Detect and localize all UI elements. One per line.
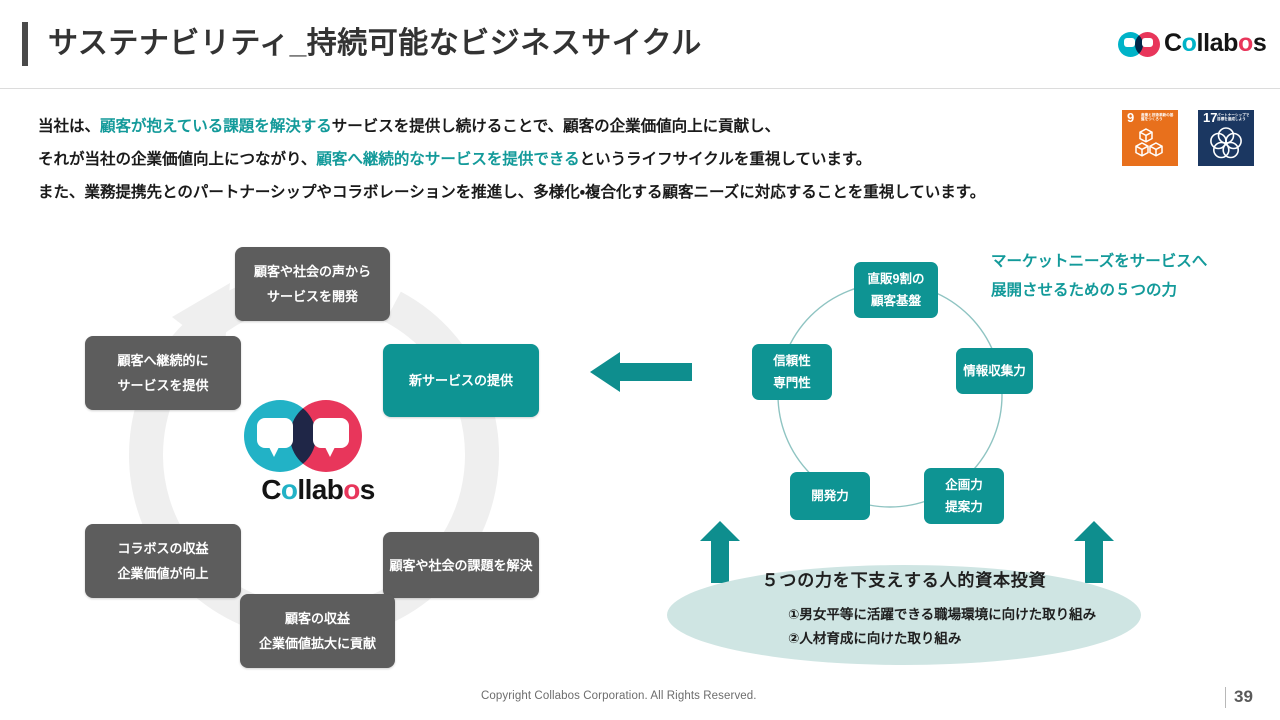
cycle-box-collabos-profit-line1: コラボスの収益 [117,536,208,561]
sdg-17-badge: 17 パートナーシップで目標を達成しよう [1198,110,1254,166]
cycle-box-collabos-profit[interactable]: コラボスの収益 企業価値が向上 [85,524,241,598]
cycle-box-continuous-line2: サービスを提供 [117,373,208,398]
force-trust-line2: 専門性 [773,372,811,394]
sdg-9-badge: 9 産業と技術革新の基盤をつくろう [1122,110,1178,166]
cycle-box-solve[interactable]: 顧客や社会の課題を解決 [383,532,539,598]
speech-bubble-left-large-icon [257,418,293,448]
force-box-customer-base[interactable]: 直販9割の 顧客基盤 [854,262,938,318]
page-number: 39 [1234,687,1253,707]
footer-copyright: Copyright Collabos Corporation. All Righ… [481,690,757,702]
force-box-info-gathering[interactable]: 情報収集力 [956,348,1033,394]
lead-line-1: 当社は、顧客が抱えている課題を解決するサービスを提供し続けることで、顧客の企業価… [38,110,1098,143]
force-development-line1: 開発力 [811,485,849,507]
force-info-gathering-line1: 情報収集力 [963,360,1026,382]
collabos-header-logo: Collabos [1118,28,1264,62]
human-capital-item-2: ②人材育成に向けた取り組み [788,627,1188,651]
cycle-box-customer-profit-line2: 企業価値拡大に貢献 [259,631,376,656]
five-forces-diagram: 直販9割の 顧客基盤 情報収集力 企画力 提案力 開発力 信頼性 専門性 [740,262,1030,532]
cycle-box-provide-new[interactable]: 新サービスの提供 [383,344,539,417]
speech-tail-left-icon [268,445,280,457]
business-cycle-diagram: 顧客や社会の声から サービスを開発 新サービスの提供 顧客や社会の課題を解決 顧… [85,243,555,675]
lead-line-2: それが当社の企業価値向上につながり、顧客へ継続的なサービスを提供できるというライ… [38,143,1098,176]
lead-paragraph: 当社は、顧客が抱えている課題を解決するサービスを提供し続けることで、顧客の企業価… [38,110,1098,209]
cycle-box-develop-line1: 顧客や社会の声から [254,259,371,284]
force-box-planning[interactable]: 企画力 提案力 [924,468,1004,524]
header-divider [0,88,1280,89]
collabos-center-wordmark: Collabos [235,474,401,506]
cycle-box-develop-line2: サービスを開発 [267,284,358,309]
title-accent-bar [22,22,28,66]
cycle-box-collabos-profit-line2: 企業価値が向上 [117,561,208,586]
force-planning-line2: 提案力 [945,496,983,518]
cycle-box-continuous-line1: 顧客へ継続的に [117,348,208,373]
collabos-center-logo: Collabos [235,400,401,518]
cycle-box-customer-profit[interactable]: 顧客の収益 企業価値拡大に貢献 [240,594,395,668]
human-capital-item-1: ①男女平等に活躍できる職場環境に向けた取り組み [788,603,1188,627]
five-forces-headline-line1: マーケットニーズをサービスへ [991,247,1266,276]
five-forces-headline-line2: 展開させるための５つの力 [991,276,1266,305]
sdg-9-number: 9 [1127,112,1134,124]
collabos-rings-icon [1118,32,1160,57]
cycle-box-customer-profit-line1: 顧客の収益 [285,606,350,631]
sdg-17-caption: パートナーシップで目標を達成しよう [1217,113,1251,122]
page-number-divider [1225,687,1226,708]
force-customer-base-line2: 顧客基盤 [871,290,921,312]
sdg-9-caption: 産業と技術革新の基盤をつくろう [1141,113,1175,122]
force-planning-line1: 企画力 [945,474,983,496]
flow-arrow-left-icon [590,352,692,392]
page-title: サステナビリティ_持続可能なビジネスサイクル [48,22,702,66]
collabos-rings-large-icon [244,400,362,472]
cycle-box-provide-new-line1: 新サービスの提供 [409,368,513,393]
cycle-box-continuous[interactable]: 顧客へ継続的に サービスを提供 [85,336,241,410]
cycle-box-solve-line1: 顧客や社会の課題を解決 [389,553,532,578]
force-box-trust[interactable]: 信頼性 専門性 [752,344,832,400]
collabos-wordmark: Collabos [1164,29,1266,58]
human-capital-title: ５つの力を下支えする人的資本投資 [667,566,1141,591]
lead-line-3: また、業務提携先とのパートナーシップやコラボレーションを推進し、多様化・複合化す… [38,176,1098,209]
force-box-development[interactable]: 開発力 [790,472,870,520]
human-capital-list: ①男女平等に活躍できる職場環境に向けた取り組み ②人材育成に向けた取り組み [788,603,1188,651]
force-customer-base-line1: 直販9割の [868,268,925,290]
speech-tail-right-icon [324,445,336,457]
speech-bubble-right-large-icon [313,418,349,448]
cycle-box-develop[interactable]: 顧客や社会の声から サービスを開発 [235,247,390,321]
sdg-17-circles-icon [1208,125,1244,161]
sdg-9-cubes-icon [1132,125,1168,161]
slide-root: サステナビリティ_持続可能なビジネスサイクル Collabos 当社は、顧客が抱… [0,0,1280,720]
five-forces-headline: マーケットニーズをサービスへ 展開させるための５つの力 [991,247,1266,305]
speech-bubble-left-icon [1124,38,1135,47]
speech-bubble-right-icon [1142,38,1153,47]
sdg-17-number: 17 [1203,112,1217,124]
force-trust-line1: 信頼性 [773,350,811,372]
